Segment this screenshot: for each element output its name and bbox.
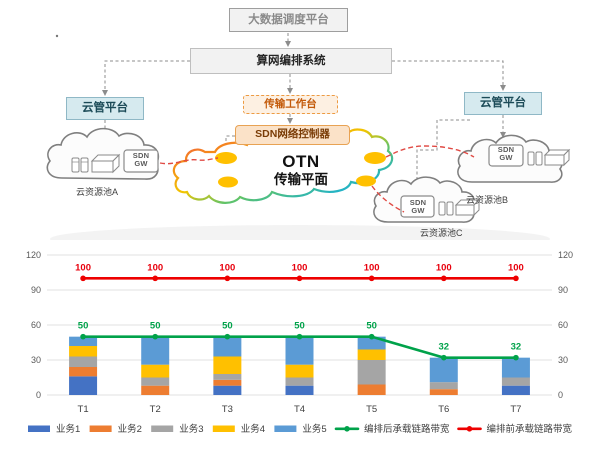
node-cloud-mgmt-platform-b[interactable]: 云管平台 (464, 92, 542, 115)
bar-segment[interactable] (430, 382, 458, 389)
legend-swatch[interactable] (151, 426, 173, 433)
data-label: 100 (508, 262, 524, 273)
bar-segment[interactable] (141, 365, 169, 378)
legend-label: 业务3 (179, 423, 203, 435)
legend-swatch[interactable] (90, 426, 112, 433)
data-label: 32 (438, 342, 449, 353)
data-label: 100 (436, 262, 452, 273)
x-axis-category-label: T3 (222, 404, 233, 415)
diagram-graphics (0, 0, 600, 240)
line-marker[interactable] (80, 334, 86, 340)
line-marker[interactable] (297, 276, 303, 282)
data-label: 100 (75, 262, 91, 273)
bar-segment[interactable] (213, 374, 241, 380)
legend-swatch[interactable] (274, 426, 296, 433)
bar-segment[interactable] (358, 350, 386, 361)
node-transport-workbench[interactable]: 传输工作台 (243, 95, 338, 114)
legend-marker (467, 426, 473, 432)
data-label: 100 (292, 262, 308, 273)
data-label: 100 (219, 262, 235, 273)
sdn-gw-c-line2: GW (404, 207, 432, 215)
otn-subtitle: 传输平面 (274, 172, 328, 188)
cloud-pool-caption-b: 云资源池B (466, 193, 508, 206)
architecture-diagram: 大数据调度平台 算网编排系统 传输工作台 SDN网络控制器 云管平台 云管平台 … (0, 0, 600, 240)
sdn-gw-b-line2: GW (492, 154, 520, 162)
bar-segment[interactable] (213, 380, 241, 386)
sdn-gw-a-line2: GW (127, 160, 155, 168)
bar-segment[interactable] (358, 385, 386, 396)
legend-marker (344, 426, 350, 432)
legend-swatch[interactable] (28, 426, 50, 433)
bar-segment[interactable] (502, 358, 530, 378)
y-axis-tick-right: 60 (558, 320, 568, 330)
y-axis-tick-left: 0 (36, 390, 41, 400)
bar-segment[interactable] (430, 358, 458, 383)
otn-plane-label: OTN 传输平面 (246, 147, 356, 193)
bar-segment[interactable] (286, 365, 314, 378)
node-cloud-mgmt-platform-a[interactable]: 云管平台 (66, 97, 144, 120)
data-label: 100 (364, 262, 380, 273)
bar-segment[interactable] (430, 389, 458, 395)
legend-label: 业务2 (118, 423, 142, 435)
sdn-gw-label-b: SDN GW (492, 146, 520, 162)
bandwidth-chart: 00303060609090120120T1T2T3T4T5T6T7505050… (0, 240, 600, 460)
bar-segment[interactable] (213, 338, 241, 357)
y-axis-tick-right: 0 (558, 390, 563, 400)
bar-segment[interactable] (358, 360, 386, 385)
bar-segment[interactable] (502, 378, 530, 386)
line-marker[interactable] (441, 276, 447, 282)
bar-segment[interactable] (69, 357, 97, 368)
bar-segment[interactable] (141, 378, 169, 386)
chart-legend: 业务1业务2业务3业务4业务5编排后承载链路带宽编排前承载链路带宽 (28, 423, 573, 435)
sdn-gw-label-c: SDN GW (404, 199, 432, 215)
bar-segment[interactable] (69, 367, 97, 376)
line-marker[interactable] (513, 355, 519, 361)
line-marker[interactable] (152, 276, 158, 282)
bar-segment[interactable] (502, 386, 530, 395)
data-label: 50 (366, 321, 377, 332)
line-marker[interactable] (369, 334, 375, 340)
line-marker[interactable] (297, 334, 303, 340)
line-marker[interactable] (441, 355, 447, 361)
y-axis-tick-left: 30 (31, 355, 41, 365)
chart-canvas: 00303060609090120120T1T2T3T4T5T6T7505050… (0, 240, 600, 460)
y-axis-tick-right: 30 (558, 355, 568, 365)
x-axis-category-label: T5 (366, 404, 377, 415)
y-axis-tick-right: 90 (558, 285, 568, 295)
data-label: 50 (294, 321, 305, 332)
legend-swatch[interactable] (213, 426, 235, 433)
data-label: 50 (150, 321, 161, 332)
data-label: 32 (511, 342, 522, 353)
cloud-pool-caption-c: 云资源池C (420, 226, 463, 239)
bar-segment[interactable] (213, 386, 241, 395)
otn-title: OTN (282, 152, 319, 172)
bar-segment[interactable] (286, 378, 314, 386)
bar-segment[interactable] (69, 346, 97, 357)
line-marker[interactable] (513, 276, 519, 282)
legend-label: 业务1 (56, 423, 80, 435)
legend-label: 业务5 (302, 423, 326, 435)
data-label: 100 (147, 262, 163, 273)
node-bigdata-platform[interactable]: 大数据调度平台 (229, 8, 348, 32)
sdn-gw-label-a: SDN GW (127, 152, 155, 168)
legend-label: 编排前承载链路带宽 (487, 423, 573, 435)
node-sdn-controller[interactable]: SDN网络控制器 (235, 125, 350, 145)
x-axis-category-label: T7 (510, 404, 521, 415)
node-orchestration-system[interactable]: 算网编排系统 (190, 48, 392, 74)
line-marker[interactable] (225, 276, 231, 282)
y-axis-tick-left: 90 (31, 285, 41, 295)
x-axis-category-label: T6 (438, 404, 449, 415)
x-axis-category-label: T1 (78, 404, 89, 415)
y-axis-tick-right: 120 (558, 250, 573, 260)
data-label: 50 (78, 321, 89, 332)
bar-segment[interactable] (141, 337, 169, 365)
legend-label: 编排后承载链路带宽 (364, 423, 450, 435)
line-marker[interactable] (225, 334, 231, 340)
data-label: 50 (222, 321, 233, 332)
line-marker[interactable] (152, 334, 158, 340)
legend-label: 业务4 (241, 423, 265, 435)
x-axis-category-label: T4 (294, 404, 305, 415)
bar-segment[interactable] (286, 337, 314, 365)
y-axis-tick-left: 120 (26, 250, 41, 260)
line-marker[interactable] (369, 276, 375, 282)
bar-segment[interactable] (69, 376, 97, 395)
cloud-pool-caption-a: 云资源池A (76, 185, 118, 198)
bar-segment[interactable] (213, 357, 241, 375)
bar-segment[interactable] (286, 386, 314, 395)
y-axis-tick-left: 60 (31, 320, 41, 330)
line-marker[interactable] (80, 276, 86, 282)
x-axis-category-label: T2 (150, 404, 161, 415)
bar-segment[interactable] (141, 386, 169, 395)
